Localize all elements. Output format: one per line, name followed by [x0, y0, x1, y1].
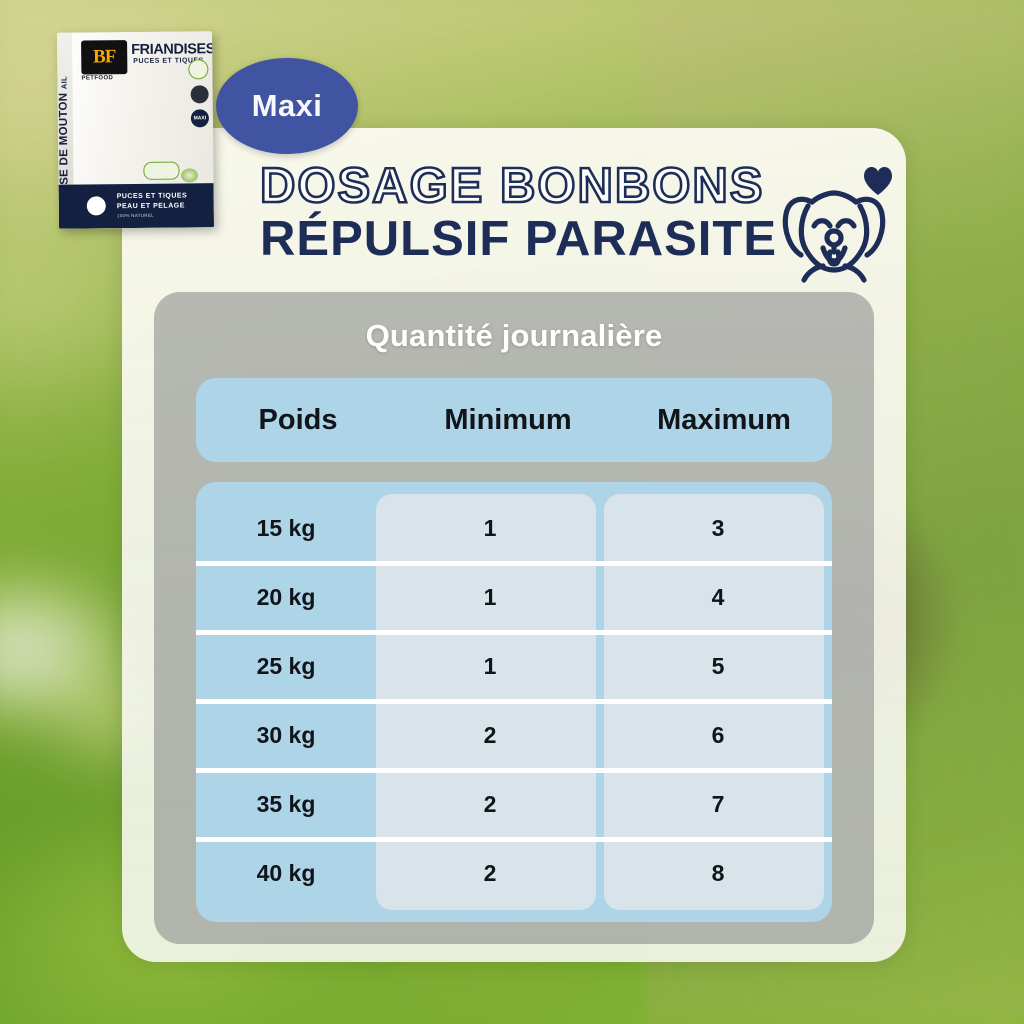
maxi-size-badge: Maxi: [216, 58, 358, 154]
cell-maximum: 5: [604, 653, 832, 680]
column-header-minimum: Minimum: [400, 404, 616, 437]
cell-minimum: 1: [376, 515, 604, 542]
cell-minimum: 2: [376, 722, 604, 749]
cell-weight: 35 kg: [196, 791, 376, 818]
package-brand-text: BF: [93, 46, 116, 68]
cell-minimum: 2: [376, 860, 604, 887]
cell-weight: 40 kg: [196, 860, 376, 887]
section-title: Quantité journalière: [154, 318, 874, 354]
cell-minimum: 1: [376, 653, 604, 680]
package-leaf-icon: [188, 59, 208, 79]
package-product-name: FRIANDISES: [131, 41, 214, 58]
table-row: 30 kg 2 6: [196, 701, 832, 770]
table-row: 15 kg 1 3: [196, 494, 832, 563]
row-divider: [196, 837, 832, 842]
table-row: 20 kg 1 4: [196, 563, 832, 632]
cell-maximum: 7: [604, 791, 832, 818]
package-brand-logo: BF: [81, 40, 127, 74]
table-header-row: Poids Minimum Maximum: [196, 378, 832, 462]
package-brand-subtitle: PETFOOD: [81, 75, 113, 81]
cell-minimum: 2: [376, 791, 604, 818]
title-line-2: RÉPULSIF PARASITE: [260, 215, 780, 265]
poster-title: DOSAGE BONBONS RÉPULSIF PARASITE: [260, 162, 780, 265]
package-flavour-sub: AIL: [59, 76, 68, 89]
cell-minimum: 1: [376, 584, 604, 611]
cell-maximum: 8: [604, 860, 832, 887]
paw-icon: [87, 196, 106, 215]
column-header-maximum: Maximum: [616, 404, 832, 437]
cell-weight: 20 kg: [196, 584, 376, 611]
table-row: 40 kg 2 8: [196, 839, 832, 908]
table-row: 25 kg 1 5: [196, 632, 832, 701]
row-divider: [196, 768, 832, 773]
row-divider: [196, 630, 832, 635]
maxi-badge-label: Maxi: [252, 88, 323, 124]
dog-head-icon: [768, 160, 900, 292]
cell-maximum: 4: [604, 584, 832, 611]
cell-maximum: 3: [604, 515, 832, 542]
package-tick-icon: [191, 85, 209, 103]
cell-weight: 30 kg: [196, 722, 376, 749]
row-divider: [196, 699, 832, 704]
table-body: 15 kg 1 3 20 kg 1 4 25 kg 1 5 30 kg 2 6 …: [196, 482, 832, 922]
table-row: 35 kg 2 7: [196, 770, 832, 839]
row-divider: [196, 561, 832, 566]
cell-maximum: 6: [604, 722, 832, 749]
column-header-poids: Poids: [196, 404, 400, 437]
package-size-label: MAXI: [191, 109, 209, 127]
cell-weight: 25 kg: [196, 653, 376, 680]
poster-header: DOSAGE BONBONS RÉPULSIF PARASITE: [140, 158, 900, 298]
package-size-icon: MAXI: [191, 109, 209, 127]
cell-weight: 15 kg: [196, 515, 376, 542]
title-line-1: DOSAGE BONBONS: [260, 162, 780, 211]
heart-icon: [864, 167, 892, 195]
